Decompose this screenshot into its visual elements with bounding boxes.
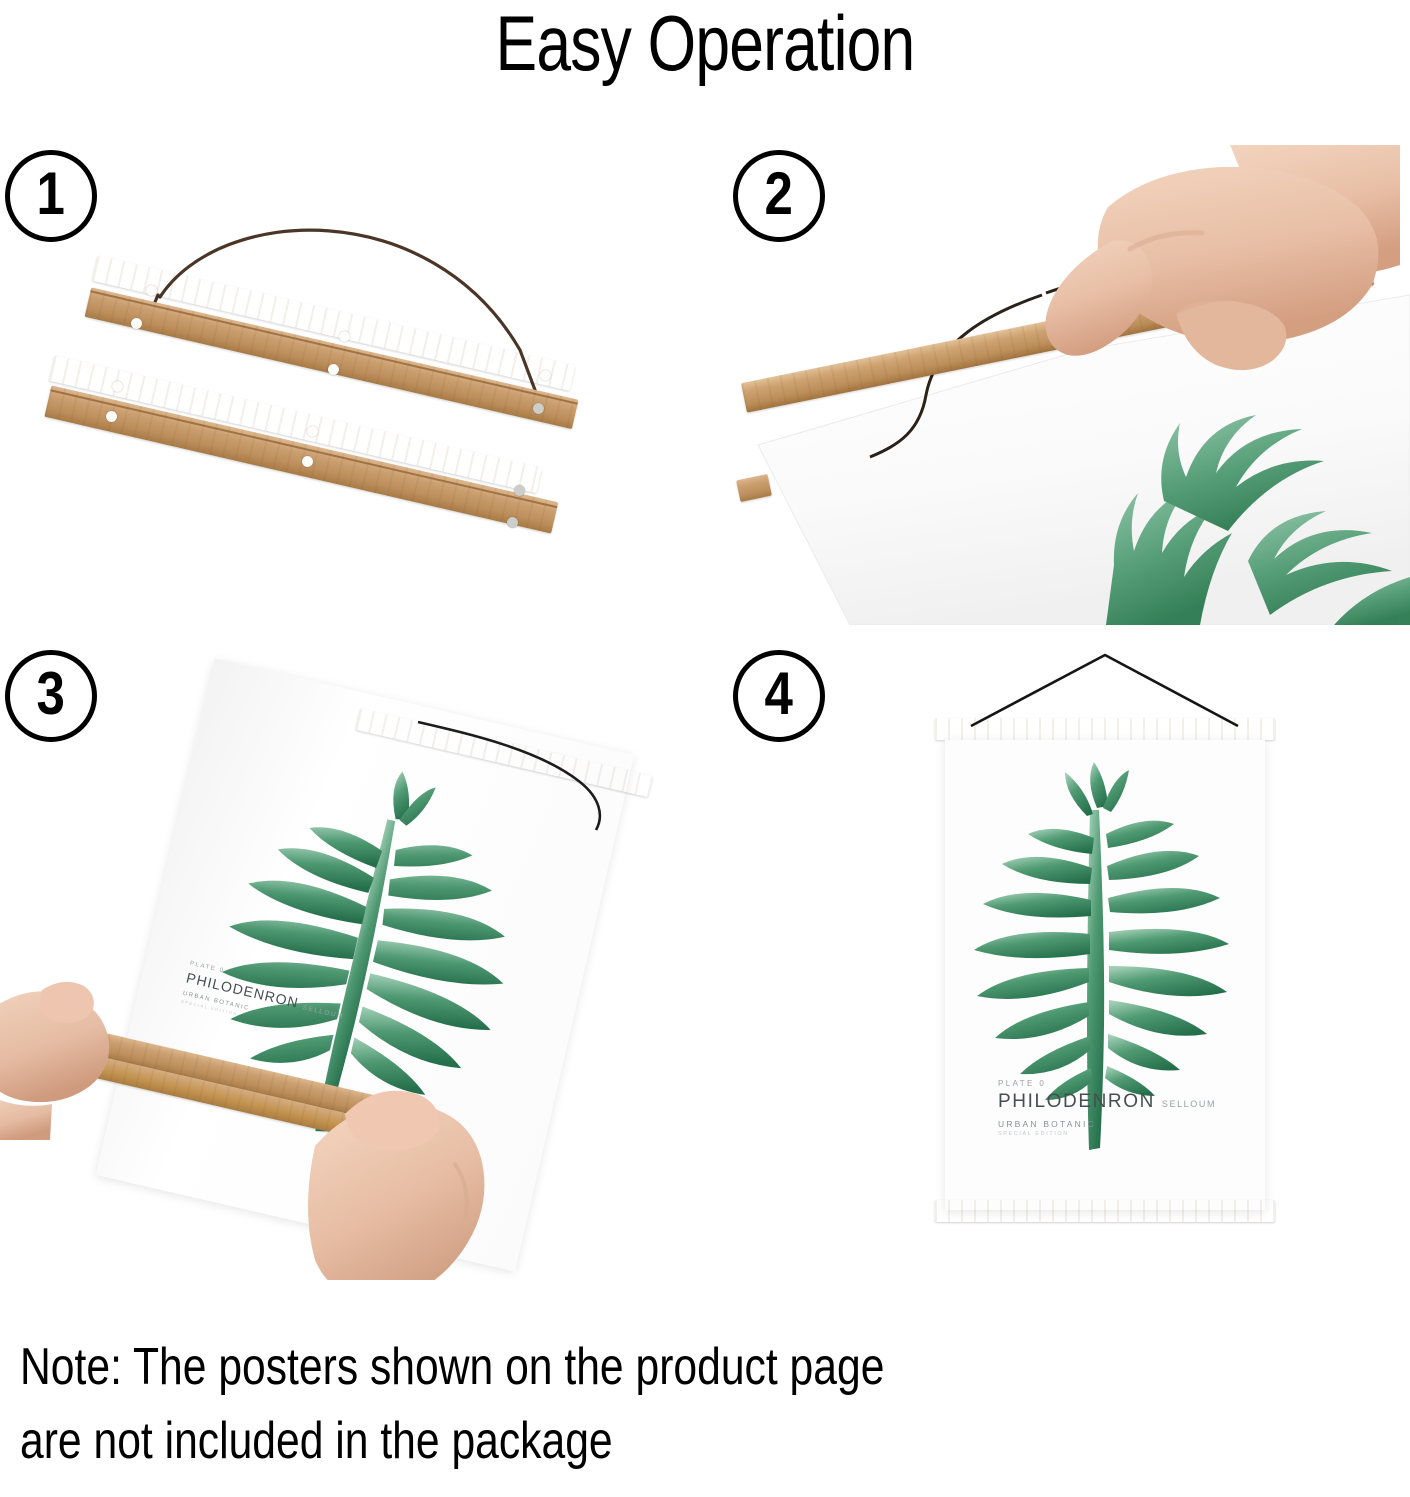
note-line-1: Note: The posters shown on the product p… <box>20 1330 1152 1404</box>
magnet-dot <box>540 370 551 381</box>
hand-left-step3 <box>0 950 170 1140</box>
step-1-panel <box>0 145 700 625</box>
step-badge-4: 4 <box>733 650 825 742</box>
note-line-2: are not included in the package <box>20 1404 1152 1478</box>
magnet-dot <box>106 411 117 422</box>
note-text: Note: The posters shown on the product p… <box>20 1330 1152 1478</box>
step-4-panel: PLATE 0 PHILODENRON SELLOUM URBAN BOTANI… <box>730 630 1410 1280</box>
page-title: Easy Operation <box>141 0 1269 86</box>
wood-rail-bottom-step4 <box>935 1200 1275 1222</box>
magnet-dot <box>131 318 142 329</box>
magnet-dot <box>307 426 318 437</box>
step-badge-1: 1 <box>5 150 97 242</box>
leaf-artwork-step4 <box>945 740 1265 1210</box>
magnet-dot <box>507 517 518 528</box>
magnet-dot <box>339 331 350 342</box>
step-badge-2: 2 <box>733 150 825 242</box>
step-2-panel <box>730 145 1410 625</box>
magnet-dot <box>514 485 525 496</box>
wood-rail-top-step4 <box>935 718 1275 740</box>
hand-right-step3 <box>285 1060 515 1280</box>
magnet-dot <box>112 381 123 392</box>
magnet-dot <box>302 456 313 467</box>
step-3-panel: PLATE 0 PHILODENRON SELLOUM URBAN BOTANI… <box>0 630 700 1280</box>
magnet-dot <box>533 403 544 414</box>
hand-holding-rail <box>980 145 1400 475</box>
poster-caption-step4: PLATE 0 PHILODENRON SELLOUM URBAN BOTANI… <box>998 1079 1216 1137</box>
step-badge-3: 3 <box>5 650 97 742</box>
magnet-dot <box>146 285 157 296</box>
magnet-dot <box>328 364 339 375</box>
